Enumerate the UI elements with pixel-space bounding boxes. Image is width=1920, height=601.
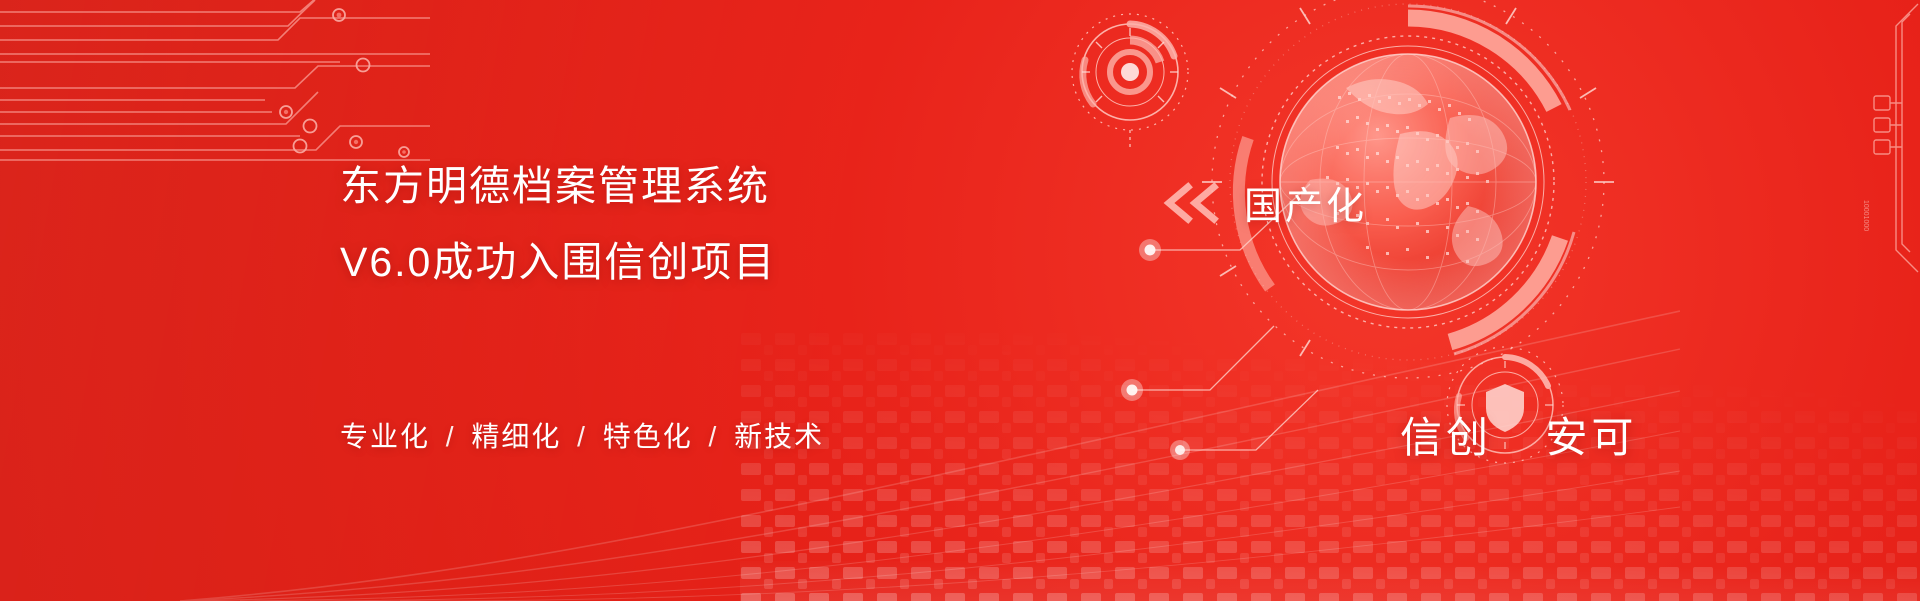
tagline-item-4: 新技术 bbox=[734, 421, 824, 452]
edge-panel-decoration: 10001000 bbox=[1800, 0, 1920, 280]
right-callout-label: 国产化 bbox=[1244, 175, 1367, 230]
bottom-callout-label-1: 信创 bbox=[1400, 414, 1492, 461]
headline-line-2: V6.0成功入围信创项目 bbox=[340, 224, 776, 300]
tagline-item-3: 特色化 bbox=[603, 421, 693, 452]
bottom-callout-label-2: 安可 bbox=[1545, 414, 1637, 461]
bottom-callout: 信创 安可 bbox=[1400, 404, 1637, 465]
banner-tagline: 专业化 / 精细化 / 特色化 / 新技术 bbox=[340, 415, 824, 455]
circuit-traces-decoration bbox=[0, 0, 430, 165]
svg-text:10001000: 10001000 bbox=[1862, 200, 1869, 231]
promo-banner: 10001000 bbox=[0, 0, 1920, 601]
banner-headline: 东方明德档案管理系统 V6.0成功入围信创项目 bbox=[340, 148, 776, 300]
hud-target-ring-icon bbox=[1055, 0, 1205, 150]
tagline-item-2: 精细化 bbox=[471, 421, 561, 452]
headline-line-1: 东方明德档案管理系统 bbox=[340, 163, 770, 209]
right-callout: 国产化 bbox=[1160, 175, 1367, 230]
tagline-item-1: 专业化 bbox=[340, 421, 430, 452]
tagline-separator: / bbox=[571, 421, 593, 452]
double-chevron-left-icon bbox=[1160, 182, 1222, 224]
tagline-separator: / bbox=[440, 421, 462, 452]
tagline-separator: / bbox=[703, 421, 725, 452]
